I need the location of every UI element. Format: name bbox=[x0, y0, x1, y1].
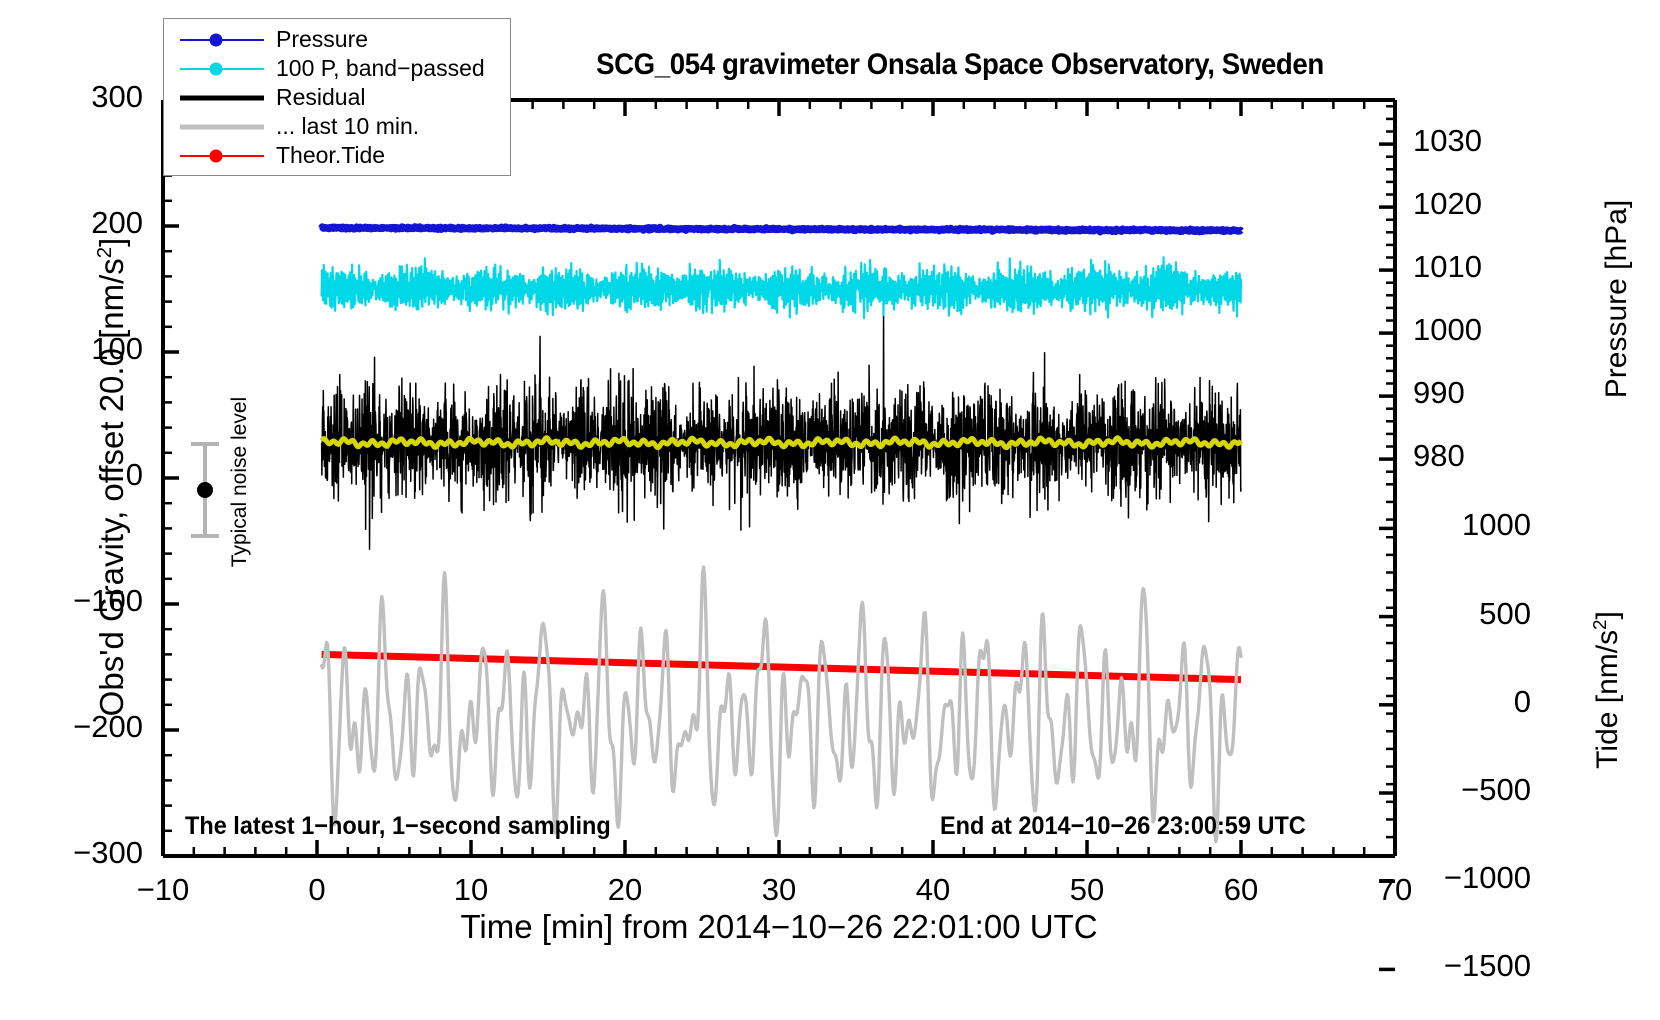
tide-tick-label: −500 bbox=[1413, 772, 1531, 808]
legend-item[interactable]: Pressure bbox=[164, 25, 510, 54]
x-tick-label: 40 bbox=[883, 872, 983, 908]
legend-swatch-3 bbox=[180, 116, 264, 138]
series-band-passed bbox=[322, 257, 1241, 318]
y-tick-label: 200 bbox=[3, 205, 143, 241]
y-tick-label: −300 bbox=[3, 835, 143, 871]
legend: Pressure100 P, band−passedResidual... la… bbox=[163, 18, 511, 176]
y-tick-label: −100 bbox=[3, 583, 143, 619]
legend-marker-icon bbox=[210, 33, 223, 46]
x-tick-label: 0 bbox=[267, 872, 367, 908]
legend-item[interactable]: 100 P, band−passed bbox=[164, 54, 510, 83]
legend-item-label: Pressure bbox=[264, 26, 368, 53]
series-residual bbox=[322, 313, 1241, 550]
legend-swatch-1 bbox=[180, 58, 264, 80]
legend-swatch-4 bbox=[180, 145, 264, 167]
legend-marker-icon bbox=[210, 149, 223, 162]
tide-tick-label: 0 bbox=[1413, 684, 1531, 720]
pressure-tick-label: 1020 bbox=[1413, 186, 1523, 222]
legend-item[interactable]: Theor.Tide bbox=[164, 141, 510, 170]
legend-swatch-0 bbox=[180, 29, 264, 51]
data-series bbox=[163, 100, 1395, 856]
x-tick-label: 50 bbox=[1037, 872, 1137, 908]
typical-noise-level-label: Typical noise level bbox=[228, 382, 252, 582]
annotation-sampling: The latest 1−hour, 1−second sampling bbox=[185, 812, 611, 841]
tide-tick-label: −1500 bbox=[1413, 948, 1531, 984]
legend-item-label: 100 P, band−passed bbox=[264, 55, 485, 82]
legend-marker-icon bbox=[210, 62, 223, 75]
y-tick-label: −200 bbox=[3, 709, 143, 745]
series-pressure bbox=[322, 227, 1241, 232]
legend-item-label: ... last 10 min. bbox=[264, 113, 419, 140]
pressure-tick-label: 990 bbox=[1413, 375, 1523, 411]
legend-item[interactable]: ... last 10 min. bbox=[164, 112, 510, 141]
legend-swatch-2 bbox=[180, 87, 264, 109]
tide-tick-label: 500 bbox=[1413, 596, 1531, 632]
pressure-tick-label: 1000 bbox=[1413, 312, 1523, 348]
y-tick-label: 300 bbox=[3, 79, 143, 115]
x-tick-label: 60 bbox=[1191, 872, 1291, 908]
series-last-10-min bbox=[322, 567, 1241, 842]
legend-line-icon bbox=[180, 95, 264, 100]
tide-tick-label: −1000 bbox=[1413, 860, 1531, 896]
pressure-tick-label: 1030 bbox=[1413, 123, 1523, 159]
y-tick-label: 0 bbox=[3, 457, 143, 493]
x-tick-label: 20 bbox=[575, 872, 675, 908]
legend-line-icon bbox=[180, 124, 264, 129]
x-tick-label: −10 bbox=[113, 872, 213, 908]
x-tick-label: 30 bbox=[729, 872, 829, 908]
legend-item-label: Theor.Tide bbox=[264, 142, 385, 169]
plot-area bbox=[163, 100, 1395, 856]
legend-item-label: Residual bbox=[264, 84, 366, 111]
annotation-end-time: End at 2014−10−26 23:00:59 UTC bbox=[940, 812, 1306, 841]
y-tick-label: 100 bbox=[3, 331, 143, 367]
legend-item[interactable]: Residual bbox=[164, 83, 510, 112]
chart-canvas: SCG_054 gravimeter Onsala Space Observat… bbox=[0, 0, 1660, 1020]
typical-noise-level-marker bbox=[180, 440, 230, 540]
x-tick-label: 10 bbox=[421, 872, 521, 908]
pressure-tick-label: 980 bbox=[1413, 438, 1523, 474]
tide-tick-label: 1000 bbox=[1413, 507, 1531, 543]
pressure-tick-label: 1010 bbox=[1413, 249, 1523, 285]
